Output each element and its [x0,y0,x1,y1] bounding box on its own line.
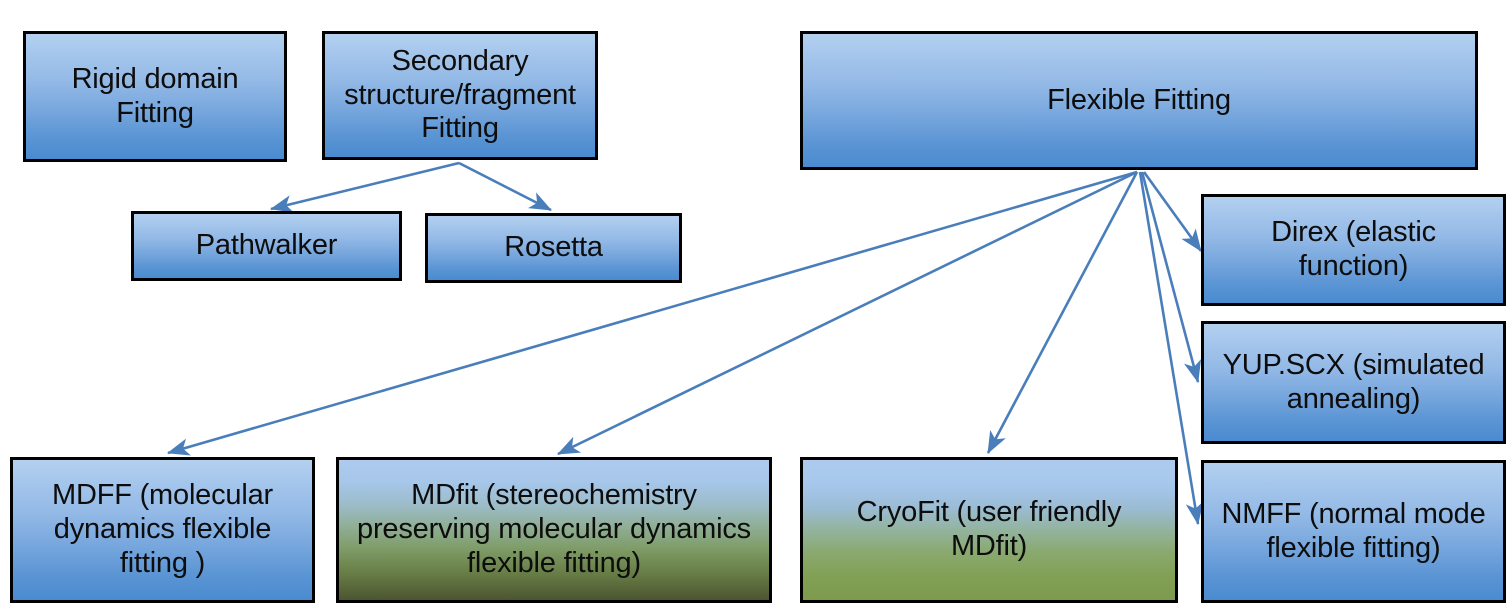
connector-flexible-to-yup [1142,172,1198,382]
node-rigid-domain-fitting[interactable]: Rigid domainFitting [23,31,287,162]
node-label-cryofit: CryoFit (user friendlyMDfit) [811,496,1167,564]
diagram-canvas: Rigid domainFittingSecondarystructure/fr… [0,0,1512,610]
node-mdfit[interactable]: MDfit (stereochemistrypreserving molecul… [336,457,772,603]
connector-flexible-to-cryofit [988,172,1137,453]
node-label-secondary-structure-fragment-fitting: Secondarystructure/fragmentFitting [333,45,587,147]
node-label-flexible-fitting: Flexible Fitting [811,84,1467,118]
node-rosetta[interactable]: Rosetta [425,213,682,283]
node-direx[interactable]: Direx (elasticfunction) [1201,194,1506,306]
node-pathwalker[interactable]: Pathwalker [131,211,402,281]
node-cryofit[interactable]: CryoFit (user friendlyMDfit) [800,457,1178,603]
connector-flexible-to-direx [1144,172,1201,251]
node-flexible-fitting[interactable]: Flexible Fitting [800,31,1478,170]
node-label-pathwalker: Pathwalker [142,229,391,263]
node-label-mdfit: MDfit (stereochemistrypreserving molecul… [347,479,761,581]
node-nmff[interactable]: NMFF (normal modeflexible fitting) [1201,460,1506,603]
node-label-rigid-domain-fitting: Rigid domainFitting [34,63,276,131]
node-label-rosetta: Rosetta [436,231,671,265]
node-secondary-structure-fragment-fitting[interactable]: Secondarystructure/fragmentFitting [322,31,598,160]
node-mdff[interactable]: MDFF (moleculardynamics flexiblefitting … [10,457,315,603]
node-label-direx: Direx (elasticfunction) [1212,216,1495,284]
connector-secondary-to-rosetta [459,163,551,210]
connector-secondary-to-pathwalker [271,163,459,209]
node-yup-scx[interactable]: YUP.SCX (simulatedannealing) [1201,321,1506,444]
node-label-yup-scx: YUP.SCX (simulatedannealing) [1212,349,1495,417]
node-label-mdff: MDFF (moleculardynamics flexiblefitting … [21,479,304,581]
node-label-nmff: NMFF (normal modeflexible fitting) [1212,498,1495,566]
